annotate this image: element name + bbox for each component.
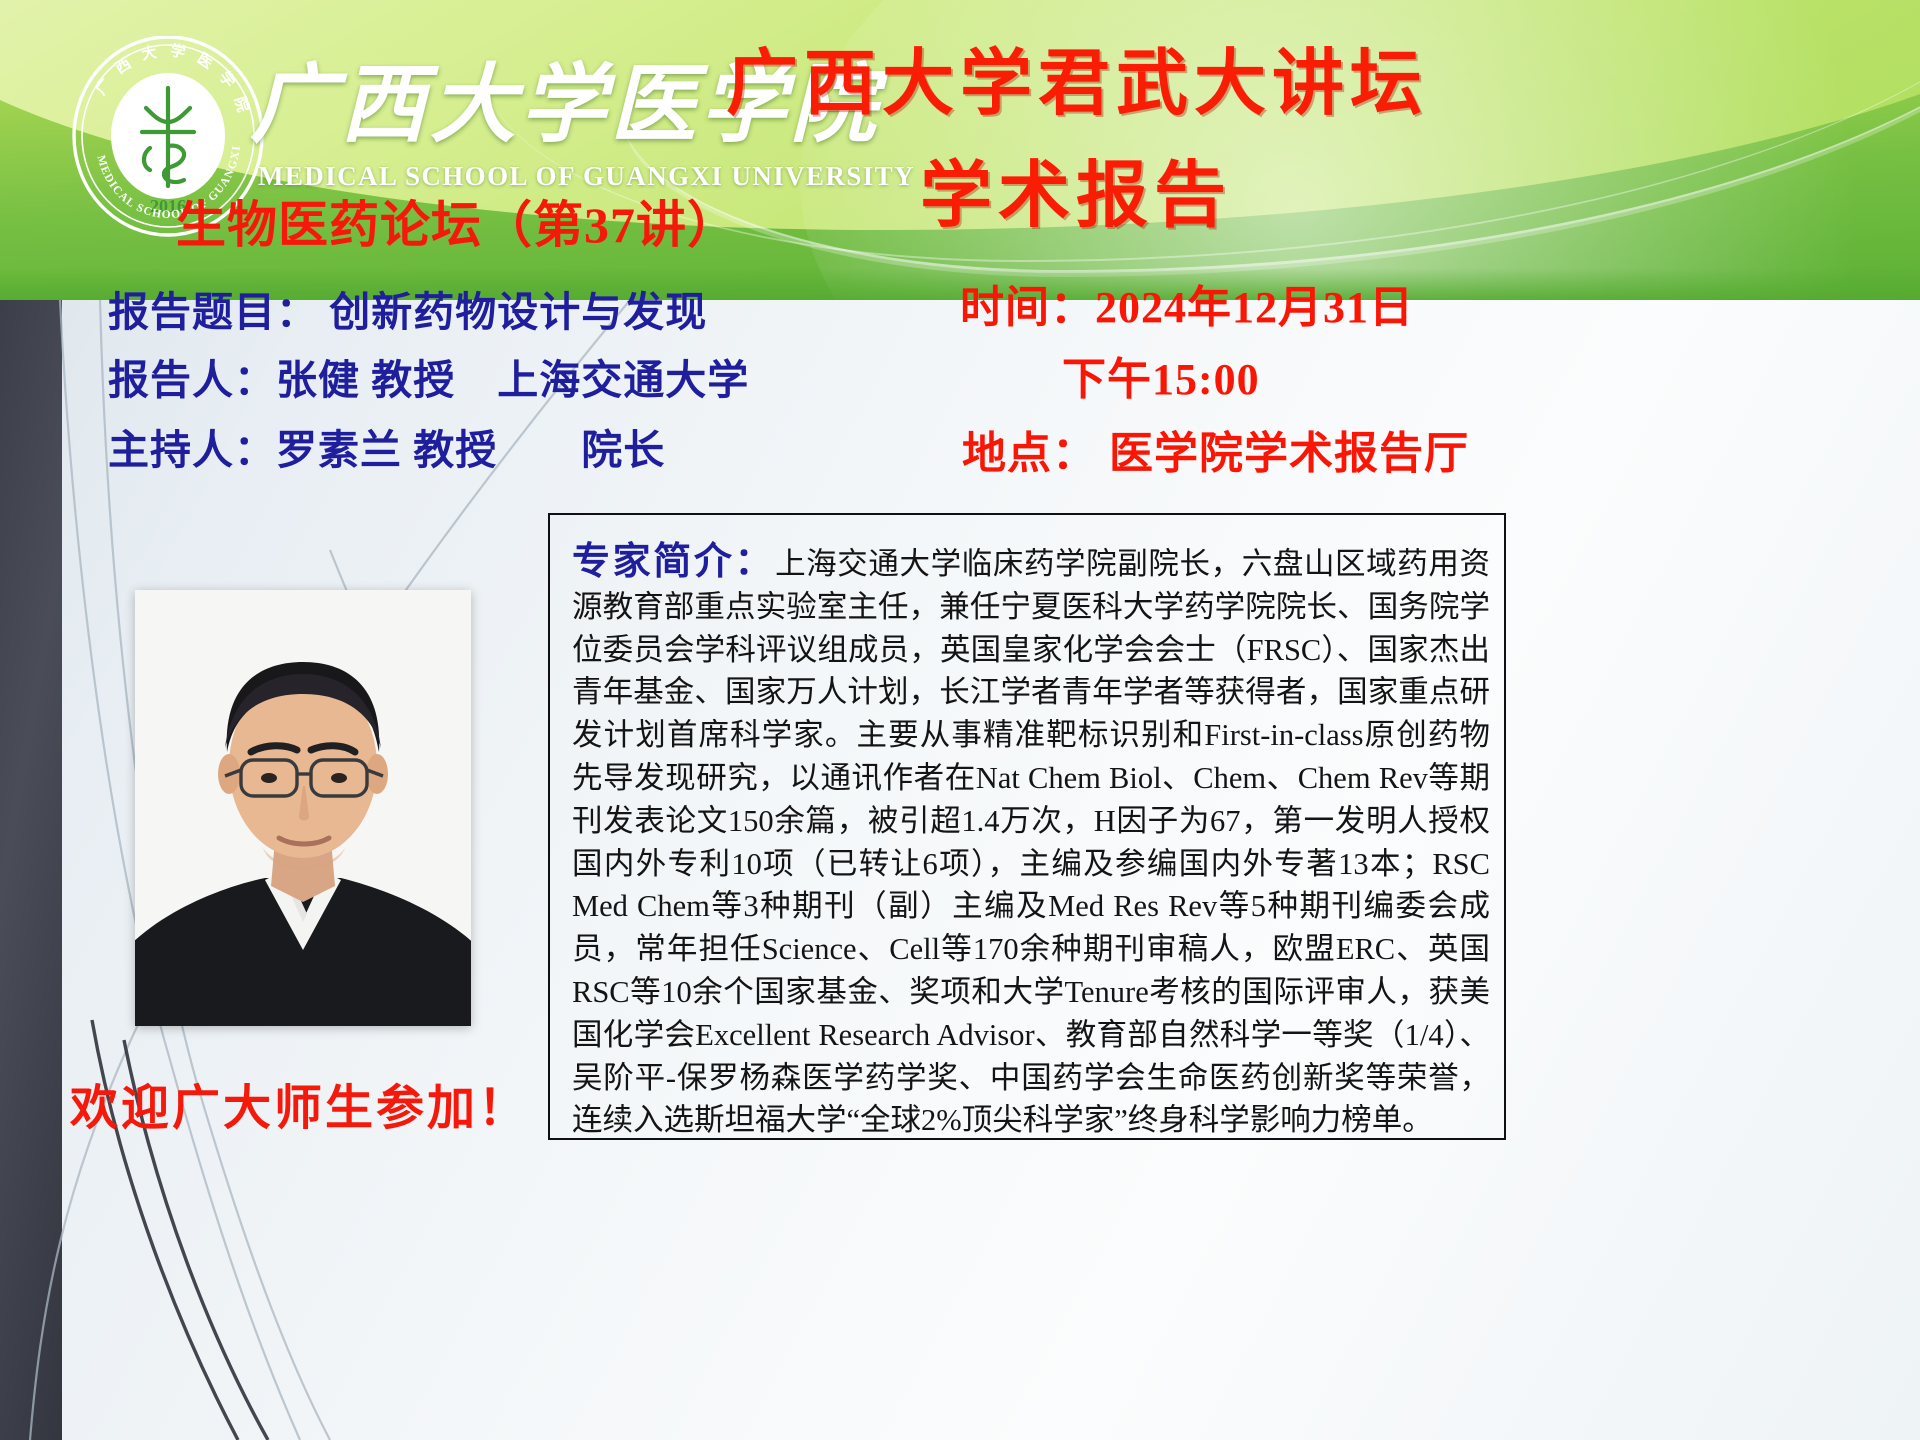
speaker-bio-text: 专家简介：上海交通大学临床药学院副院长，六盘山区域药用资源教育部重点实验室主任，… xyxy=(572,541,1490,1142)
poster-title-line-1: 广西大学君武大讲坛 xyxy=(726,48,1428,120)
host-line: 主持人：罗素兰 教授 院长 xyxy=(108,430,665,471)
speaker-bio-body: 上海交通大学临床药学院副院长，六盘山区域药用资源教育部重点实验室主任，兼任宁夏医… xyxy=(572,547,1490,1137)
welcome-text: 欢迎广大师生参加！ xyxy=(70,1085,529,1133)
event-clock-line: 下午15:00 xyxy=(1062,358,1260,402)
forum-subtitle: 生物医药论坛（第37讲） xyxy=(176,200,738,250)
speaker-photo xyxy=(135,590,471,1026)
school-name-english: MEDICAL SCHOOL OF GUANGXI UNIVERSITY xyxy=(258,163,915,190)
speaker-bio-label: 专家简介： xyxy=(572,541,775,583)
seminar-poster: 2016 广西大学医学院 MEDICAL SCHOOL OF GUANGXI U… xyxy=(0,0,1920,1440)
event-date-line: 时间：2024年12月31日 xyxy=(960,286,1414,330)
poster-header-band: 2016 广西大学医学院 MEDICAL SCHOOL OF GUANGXI U… xyxy=(0,0,1920,300)
left-accent-bar xyxy=(0,300,62,1440)
speaker-line: 报告人：张健 教授 上海交通大学 xyxy=(108,360,749,401)
talk-title-line: 报告题目： 创新药物设计与发现 xyxy=(108,292,707,333)
poster-title-line-2: 学术报告 xyxy=(920,160,1232,232)
speaker-bio-box: 专家简介：上海交通大学临床药学院副院长，六盘山区域药用资源教育部重点实验室主任，… xyxy=(548,513,1506,1140)
event-location-line: 地点： 医学院学术报告厅 xyxy=(962,432,1469,476)
